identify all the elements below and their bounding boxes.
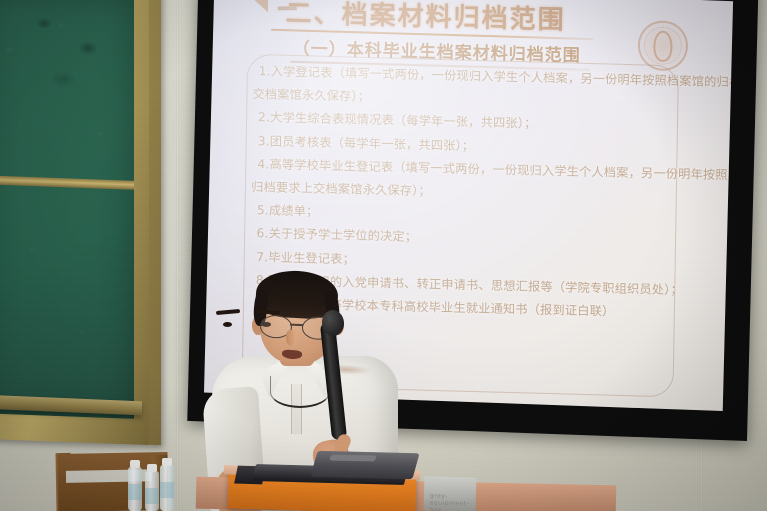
water-bottle — [145, 471, 159, 511]
slide-body-line: 交档案馆永久保存）； — [252, 88, 728, 111]
blackboard-smudge — [36, 17, 52, 30]
grey-equipment-box: grey-equipment-box — [424, 476, 477, 511]
presenter-necklace — [270, 376, 330, 408]
bottle-label — [160, 482, 174, 498]
blackboard — [0, 0, 134, 419]
slide-body-line: 3.团员考核表（每学年一张，共四张）； — [258, 135, 728, 158]
lecture-photo-scene: 二、档案材料归档范围 （一）本科毕业生档案材料归档范围 1.入学登记表（填写一式… — [0, 0, 767, 511]
water-bottle — [128, 467, 142, 511]
presenter-eyebrow-left — [216, 309, 240, 315]
blackboard-smudge — [50, 70, 76, 89]
grey-box-label: grey-equipment-box — [430, 493, 476, 511]
presenter-nose — [286, 330, 296, 346]
slide-body-line: 4.高等学校毕业生登记表（填写一式两份，一份现归入学生个人档案，另一份明年按照档… — [257, 158, 727, 181]
slide-body-line: 归档要求上交档案馆永久保存）； — [251, 181, 727, 204]
blackboard-smudge — [78, 41, 98, 56]
water-bottle — [160, 465, 174, 511]
slide-body-line: 6.关于授予学士学位的决定； — [256, 228, 726, 251]
blackboard-chalk-dust — [0, 0, 134, 419]
slide-body-line: 5.成绩单； — [257, 204, 727, 227]
wall-seam-left — [176, 0, 179, 511]
bottle-label — [145, 488, 159, 504]
slide-body-line: 7.毕业生登记表； — [256, 251, 726, 274]
slide-corner-triangle-decoration — [234, 0, 268, 12]
laptop-hinge — [329, 455, 377, 462]
slide-body-line: 2.大学生综合表现情况表（每学年一张，共四张）； — [258, 112, 728, 135]
presenter-eye-left — [223, 322, 232, 327]
bottle-label — [128, 484, 142, 500]
